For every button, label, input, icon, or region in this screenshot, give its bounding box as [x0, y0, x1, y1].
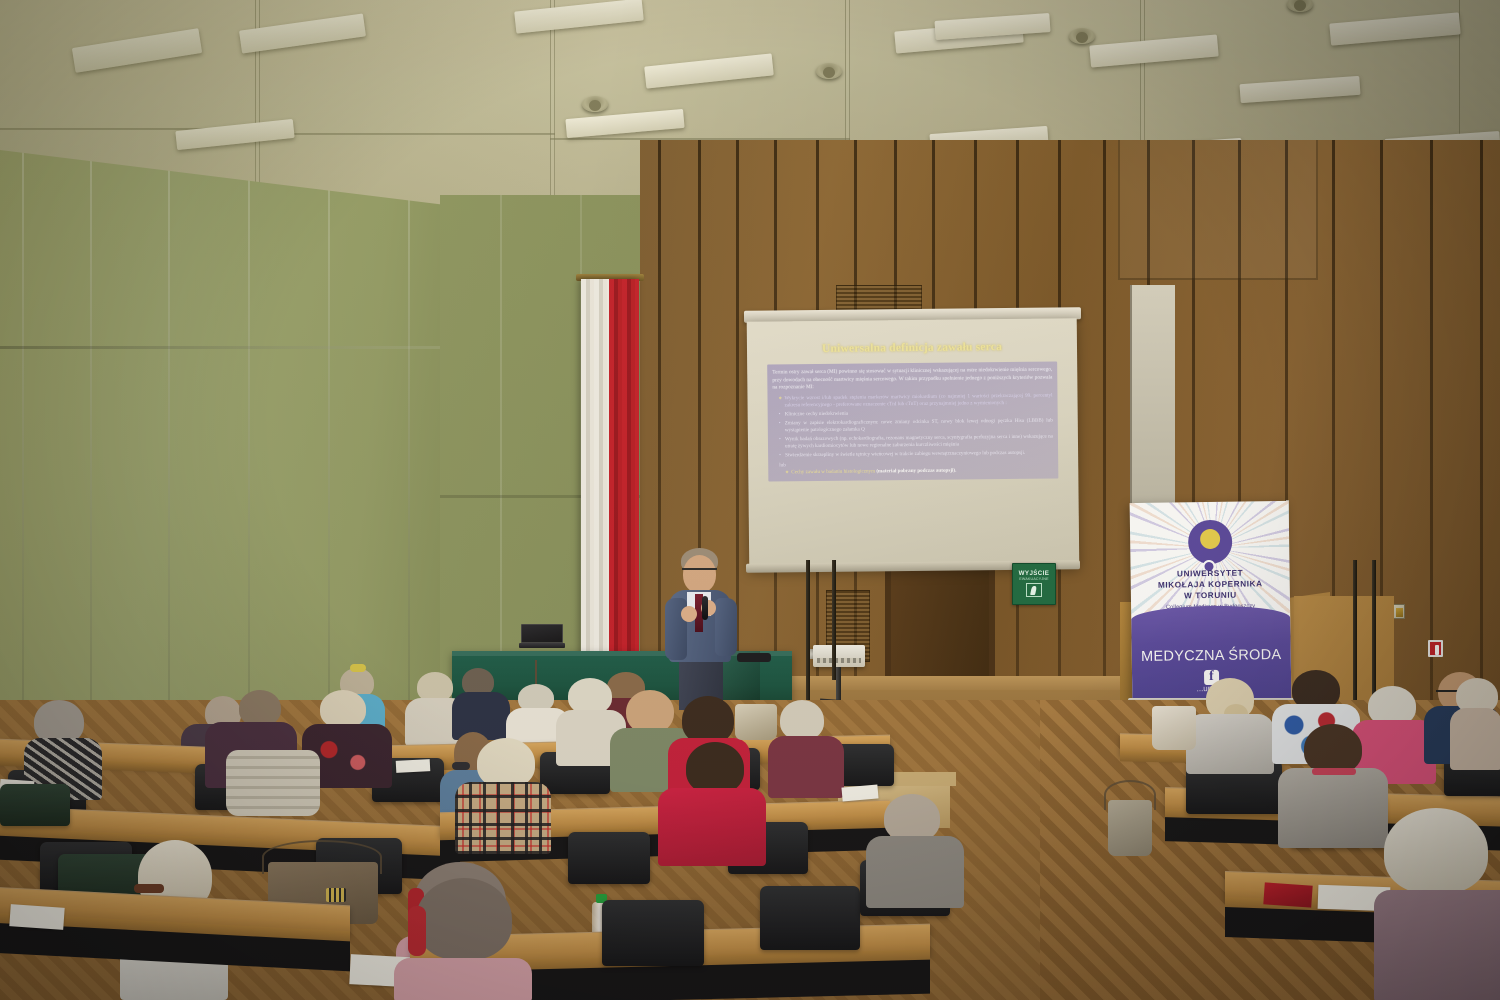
emergency-exit-sign: WYJŚCIE EWAKUACYJNE: [1012, 563, 1056, 605]
hair: [1304, 724, 1362, 774]
slide-bullet-list: Wykrycie wzrost i/lub spadek stężenia ma…: [778, 392, 1053, 460]
handbag-clasp: [326, 888, 346, 902]
exit-sign-line2: EWAKUACYJNE: [1013, 577, 1055, 581]
hair: [1384, 808, 1488, 894]
torso: [1186, 714, 1274, 774]
headband: [408, 906, 426, 956]
audience-person: [452, 668, 512, 738]
left-wall: [0, 150, 470, 770]
banner-event-title: MEDYCZNA ŚRODA: [1132, 647, 1291, 665]
hair: [416, 878, 512, 960]
laptop[interactable]: [519, 624, 565, 650]
hair: [477, 738, 535, 788]
slide-bullet: Zmiany w zapisie elektrokardiograficznym…: [779, 417, 1053, 434]
handbag-strap: [1104, 780, 1156, 810]
slide-bullet: Stwierdzenie skrzepliny w świetle tętnic…: [779, 450, 1053, 460]
laptop-keyboard: [519, 643, 565, 648]
wall-screen-edge: [1130, 285, 1175, 515]
handbag: [735, 704, 777, 740]
puffer-jacket: [226, 750, 320, 816]
hair: [682, 696, 734, 744]
chair[interactable]: [760, 886, 860, 950]
speaker: [657, 548, 747, 708]
audience-person: [1186, 678, 1276, 766]
audience-person: [658, 742, 768, 862]
slide-title: Uniwersalna definicja zawału serca: [755, 340, 1069, 355]
support-pole: [832, 560, 836, 680]
torso: [1278, 768, 1388, 848]
audience-person: [22, 700, 104, 792]
projector: [813, 645, 865, 667]
hair: [686, 742, 744, 794]
exit-sign-line1: WYJŚCIE: [1013, 570, 1055, 577]
rollup-banner: UNIWERSYTET MIKOŁAJA KOPERNIKA W TORUNIU…: [1130, 501, 1292, 701]
speaker-glasses-icon: [682, 568, 717, 573]
audience-person: [768, 700, 846, 796]
ceiling-light: [644, 53, 774, 88]
audience-person: [226, 742, 322, 822]
hair: [568, 678, 612, 714]
audience-person: [1374, 808, 1500, 1000]
torso: [768, 736, 844, 798]
ceiling-light: [1239, 76, 1360, 103]
ceiling-speaker-icon: [1069, 28, 1095, 44]
lanyard: [1312, 768, 1356, 775]
running-person-icon: [1026, 583, 1042, 597]
slide-bullet: Wykrycie wzrost i/lub spadek stężenia ma…: [778, 392, 1052, 409]
audience-person: [866, 794, 966, 904]
ceiling-speaker-icon: [1287, 0, 1313, 12]
notepad: [9, 904, 64, 930]
audience-person: [394, 878, 534, 1000]
handbag-strap: [262, 840, 382, 874]
chair[interactable]: [602, 900, 704, 966]
ceiling-speaker-icon: [582, 96, 608, 112]
handbag: [1152, 706, 1196, 750]
hair: [780, 700, 824, 740]
slide-intro-text: Termin ostry zawał serca (MI) powinno si…: [772, 367, 1052, 392]
slide-bullet: Kliniczne cechy niedokrwienia: [779, 408, 1053, 418]
torso: [1374, 890, 1500, 1000]
hair: [239, 690, 281, 726]
chair[interactable]: [568, 832, 650, 884]
torso: [1450, 708, 1500, 770]
hair-clip: [350, 664, 366, 672]
polish-flag-drape: [581, 279, 639, 661]
ceiling-light: [175, 119, 294, 150]
slide-bullet: Wynik badań obrazowych (np. echokardiogr…: [779, 434, 1053, 451]
ceiling-light: [72, 28, 202, 73]
lecture-hall-photo: Uniwersalna definicja zawału serca Termi…: [0, 0, 1500, 1000]
laptop-screen: [521, 624, 563, 643]
slide-final-lead: Cechy zawału w badaniu histologicznym: [791, 468, 875, 475]
red-sweater: [658, 788, 766, 866]
banner-university-name: UNIWERSYTET MIKOŁAJA KOPERNIKA W TORUNIU…: [1131, 567, 1291, 611]
banner-line3: W TORUNIU: [1131, 589, 1290, 602]
ceiling-light: [1089, 34, 1218, 67]
brochure: [1263, 882, 1312, 907]
fire-extinguisher-sign: [1428, 640, 1443, 657]
audience-person: [1450, 678, 1500, 766]
ceiling-light: [239, 13, 366, 53]
projection-screen: Uniwersalna definicja zawału serca Termi…: [747, 318, 1080, 569]
speaker-hand: [681, 606, 697, 622]
slide-final-rest: (materiał pobrany podczas autopsji).: [876, 467, 956, 474]
ceiling-light: [934, 13, 1050, 40]
ceiling-light: [514, 0, 644, 34]
chair[interactable]: [0, 784, 70, 826]
audience-person: [455, 738, 553, 848]
slide-content-box: Termin ostry zawał serca (MI) powinno si…: [767, 361, 1058, 481]
ceiling-speaker-icon: [816, 63, 842, 79]
speaker-head: [683, 555, 716, 593]
hair: [884, 794, 940, 842]
notepad: [396, 759, 431, 773]
handheld-microphone[interactable]: [702, 596, 708, 620]
presentation-slide: Uniwersalna definicja zawału serca Termi…: [755, 340, 1071, 533]
ceiling-light: [565, 109, 684, 138]
torso: [866, 836, 964, 908]
ceiling-light: [1329, 12, 1460, 45]
speaker-right-arm: [715, 598, 737, 656]
hair-comb: [134, 884, 164, 893]
plaid-jacket: [455, 782, 551, 854]
torso: [394, 958, 532, 1000]
hair: [320, 690, 366, 728]
ceiling-light: [894, 20, 1023, 53]
